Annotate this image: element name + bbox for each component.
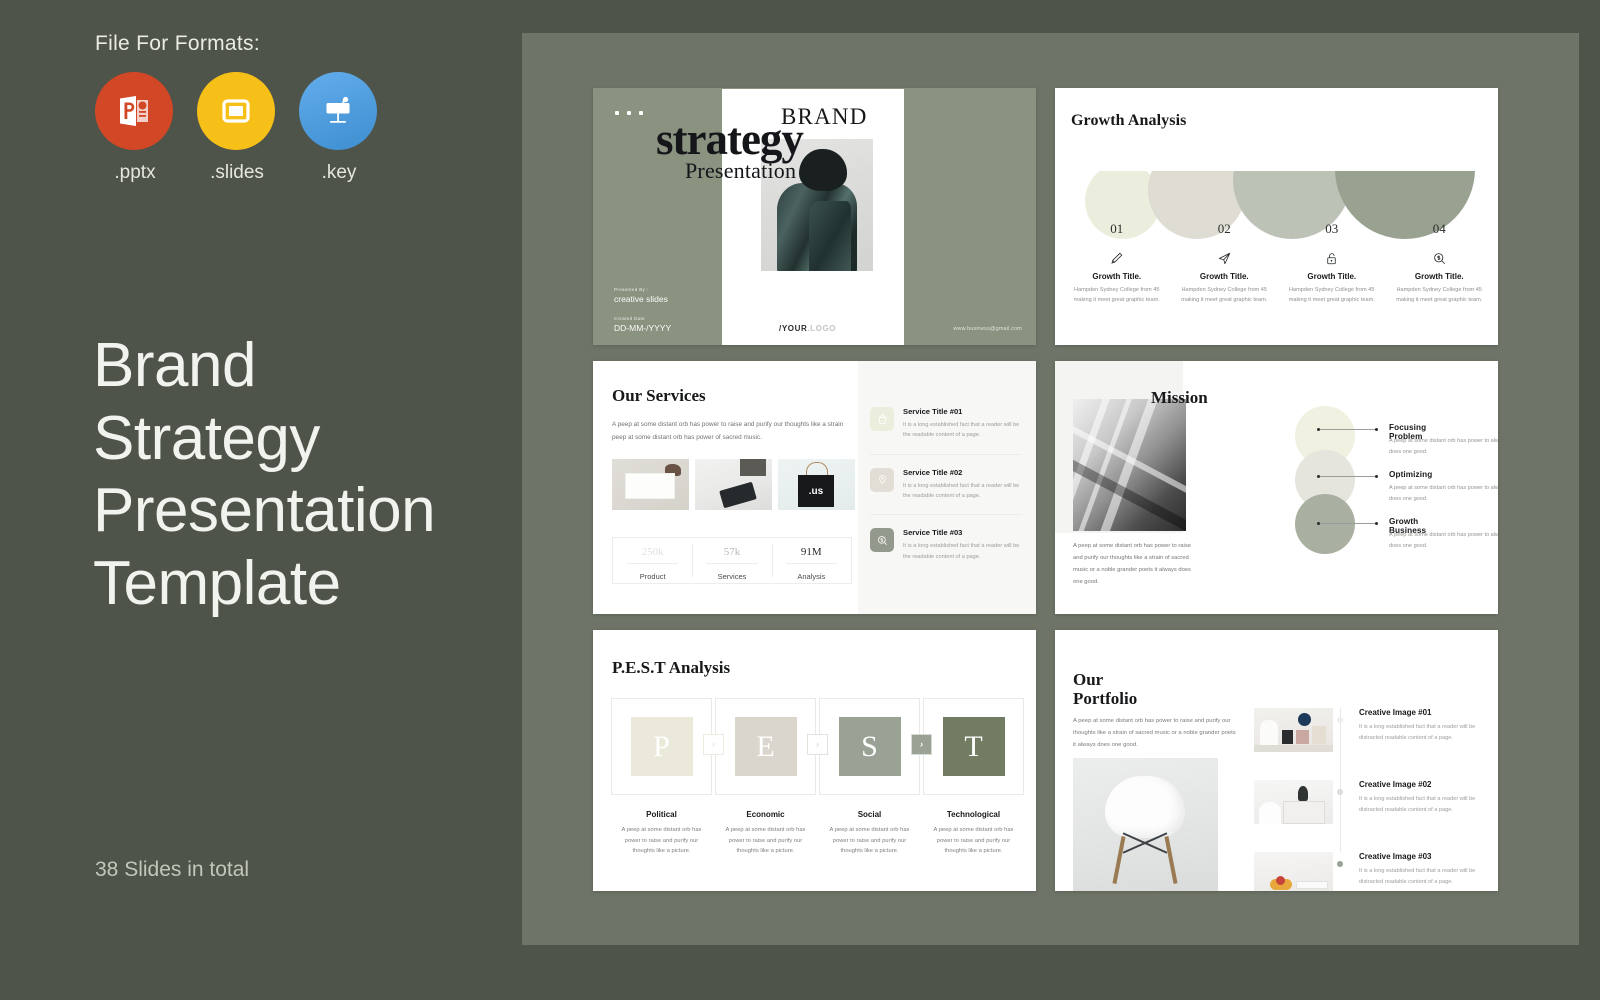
service-item-2[interactable]: Service Title #02 It is a long establish… (870, 468, 1022, 516)
pest-cell-1: P (611, 698, 712, 795)
services-lede: A peep at some distant orb has power to … (612, 418, 844, 444)
pest-body-3: A peep at some distant orb has power to … (819, 825, 920, 857)
mission-body-1: A peep at some distant orb has power to … (1389, 436, 1498, 457)
title-slide-meta: Presented By : creative slides Created D… (614, 287, 671, 345)
mission-circles (1295, 406, 1355, 554)
pest-body-1: A peep at some distant orb has power to … (611, 825, 712, 857)
paper-plane-icon (1179, 248, 1271, 268)
created-date-label: Created Date (614, 316, 671, 321)
pest-letter-1: P (631, 717, 693, 776)
keynote-icon (299, 72, 377, 150)
presented-by-label: Presented By : (614, 287, 671, 292)
desk-styling-photo (1254, 708, 1333, 752)
title-line-4: Template (93, 548, 435, 621)
portfolio-node-1 (1337, 717, 1343, 723)
portfolio-title: Our Portfolio (1073, 670, 1137, 708)
pest-letter-2: E (735, 717, 797, 776)
pest-letter-row: P E S T › › › (611, 698, 1024, 795)
service-heading-3: Service Title #03 (903, 528, 1022, 537)
portfolio-body-1: It is a long established fact that a rea… (1359, 722, 1487, 743)
growth-numbers: 01 02 03 04 (1063, 221, 1493, 237)
stat-analysis: 91M Analysis (772, 538, 851, 583)
services-title: Our Services (612, 386, 706, 406)
logo-sub: .LOGO (807, 324, 836, 333)
growth-number-4: 04 (1386, 221, 1494, 237)
stat-services: 57k Services (692, 538, 771, 583)
left-info-panel: File For Formats: .pptx (0, 0, 530, 1000)
growth-body-2: Hampden Sydney College from 45 making it… (1179, 286, 1271, 306)
pest-cell-4: T (923, 698, 1024, 795)
location-pin-icon (870, 468, 894, 492)
slide-count-label: 38 Slides in total (95, 858, 249, 882)
growth-heading-3: Growth Title. (1286, 272, 1378, 281)
pest-letter-4: T (943, 717, 1005, 776)
fruit-tray-photo (1254, 852, 1333, 891)
stat-product-number: 250k (613, 546, 692, 558)
title-line-2: Strategy (93, 403, 435, 476)
service-heading-2: Service Title #02 (903, 468, 1022, 477)
portfolio-body: A peep at some distant orb has power to … (1073, 716, 1239, 751)
pest-label-2: Economic A peep at some distant orb has … (715, 810, 816, 857)
growth-column-4: Growth Title. Hampden Sydney College fro… (1386, 248, 1494, 306)
pest-arrow-icon-1: › (703, 734, 724, 755)
unlock-icon (1286, 248, 1378, 268)
portfolio-title-line-1: Our (1073, 670, 1137, 689)
mission-body-3: A peep at some distant orb has power to … (1389, 530, 1498, 551)
search-dollar-icon (870, 528, 894, 552)
stat-services-number: 57k (692, 546, 771, 558)
pest-arrow-icon-2: › (807, 734, 828, 755)
services-list: Service Title #01 It is a long establish… (858, 361, 1036, 614)
phone-on-desk-photo (695, 459, 772, 510)
service-item-3[interactable]: Service Title #03 It is a long establish… (870, 528, 1022, 575)
service-heading-1: Service Title #01 (903, 407, 1022, 416)
pest-heading-4: Technological (923, 810, 1024, 819)
google-slides-icon (197, 72, 275, 150)
mission-heading-2: Optimizing (1389, 470, 1432, 479)
growth-body-1: Hampden Sydney College from 45 making it… (1071, 286, 1163, 306)
pest-heading-1: Political (611, 810, 712, 819)
architecture-building-photo (1073, 399, 1186, 531)
tote-bag-text: .us (798, 486, 834, 497)
sideboard-photo (1254, 780, 1333, 824)
slide-preview-our-portfolio[interactable]: Our Portfolio A peep at some distant orb… (1055, 630, 1498, 891)
pest-arrow-icon-3: › (911, 734, 932, 755)
pest-body-2: A peep at some distant orb has power to … (715, 825, 816, 857)
pest-label-1: Political A peep at some distant orb has… (611, 810, 712, 857)
pest-letter-3: S (839, 717, 901, 776)
powerpoint-icon (95, 72, 173, 150)
created-date-value: DD-MM-/YYYY (614, 323, 671, 333)
portfolio-heading-1: Creative Image #01 (1359, 708, 1487, 717)
format-ext-key: .key (299, 162, 379, 184)
portfolio-heading-3: Creative Image #03 (1359, 852, 1487, 861)
slide-preview-title[interactable]: BRAND strategy Presentation /YOUR.LOGO P… (593, 88, 1036, 345)
format-icon-row: .pptx .slides .key (95, 72, 379, 184)
format-item-key[interactable]: .key (299, 72, 379, 184)
service-body-1: It is a long established fact that a rea… (903, 420, 1022, 441)
slide-presentation-word: Presentation (685, 158, 796, 184)
presented-by-value: creative slides (614, 294, 671, 304)
format-item-slides[interactable]: .slides (197, 72, 277, 184)
portfolio-item-1[interactable]: Creative Image #01 It is a long establis… (1254, 708, 1487, 763)
shopping-bag-icon (870, 407, 894, 431)
pest-body-4: A peep at some distant orb has power to … (923, 825, 1024, 857)
format-ext-slides: .slides (197, 162, 277, 184)
growth-number-1: 01 (1063, 221, 1171, 237)
portfolio-body-2: It is a long established fact that a rea… (1359, 794, 1487, 815)
slide-preview-growth-analysis[interactable]: Growth Analysis 01 02 03 04 Growth Title… (1055, 88, 1498, 345)
mission-body-2: A peep at some distant orb has power to … (1389, 483, 1498, 504)
stat-product: 250k Product (613, 538, 692, 583)
slide-grid: BRAND strategy Presentation /YOUR.LOGO P… (593, 88, 1508, 891)
slide-preview-mission[interactable]: Mission A peep at some distant orb has p… (1055, 361, 1498, 614)
portfolio-heading-2: Creative Image #02 (1359, 780, 1487, 789)
growth-body-4: Hampden Sydney College from 45 making it… (1394, 286, 1486, 306)
pencil-icon (1071, 248, 1163, 268)
growth-column-1: Growth Title. Hampden Sydney College fro… (1063, 248, 1171, 306)
mission-body: A peep at some distant orb has power to … (1073, 541, 1191, 589)
service-body-3: It is a long established fact that a rea… (903, 541, 1022, 562)
pest-label-4: Technological A peep at some distant orb… (923, 810, 1024, 857)
portfolio-items: Creative Image #01 It is a long establis… (1254, 708, 1487, 891)
portfolio-item-2[interactable]: Creative Image #02 It is a long establis… (1254, 780, 1487, 835)
formats-label: File For Formats: (95, 32, 260, 56)
portfolio-node-3 (1337, 861, 1343, 867)
services-stats-box: 250k Product 57k Services 91M Analysis (612, 537, 852, 584)
pest-title: P.E.S.T Analysis (612, 658, 730, 678)
pest-heading-2: Economic (715, 810, 816, 819)
services-image-row: .us (612, 459, 855, 510)
growth-columns: Growth Title. Hampden Sydney College fro… (1063, 248, 1493, 306)
open-book-photo (612, 459, 689, 510)
growth-number-2: 02 (1171, 221, 1279, 237)
growth-heading-4: Growth Title. (1394, 272, 1486, 281)
logo-main: /YOUR (779, 324, 807, 333)
growth-column-3: Growth Title. Hampden Sydney College fro… (1278, 248, 1386, 306)
dots-decoration (615, 111, 643, 115)
title-line-3: Presentation (93, 475, 435, 548)
growth-heading-2: Growth Title. (1179, 272, 1271, 281)
pest-heading-3: Social (819, 810, 920, 819)
pest-label-3: Social A peep at some distant orb has po… (819, 810, 920, 857)
format-item-pptx[interactable]: .pptx (95, 72, 175, 184)
service-item-1[interactable]: Service Title #01 It is a long establish… (870, 407, 1022, 455)
pest-cell-2: E (715, 698, 816, 795)
contact-email: www.business@gmail.com (953, 326, 1022, 332)
stat-services-unit: Services (692, 565, 771, 581)
portfolio-item-3[interactable]: Creative Image #03 It is a long establis… (1254, 852, 1487, 891)
slide-preview-pest-analysis[interactable]: P.E.S.T Analysis P E S T › › › (593, 630, 1036, 891)
slide-preview-our-services[interactable]: Our Services A peep at some distant orb … (593, 361, 1036, 614)
page-title: Brand Strategy Presentation Template (93, 330, 435, 620)
growth-body-3: Hampden Sydney College from 45 making it… (1286, 286, 1378, 306)
pest-label-row: Political A peep at some distant orb has… (611, 810, 1024, 857)
growth-column-2: Growth Title. Hampden Sydney College fro… (1171, 248, 1279, 306)
portfolio-body-3: It is a long established fact that a rea… (1359, 866, 1487, 887)
portfolio-title-line-2: Portfolio (1073, 689, 1137, 708)
service-body-2: It is a long established fact that a rea… (903, 481, 1022, 502)
stat-product-unit: Product (613, 565, 692, 581)
growth-number-3: 03 (1278, 221, 1386, 237)
stat-analysis-unit: Analysis (772, 565, 851, 581)
format-ext-pptx: .pptx (95, 162, 175, 184)
slide-showcase-panel: BRAND strategy Presentation /YOUR.LOGO P… (522, 33, 1579, 945)
your-logo-placeholder: /YOUR.LOGO (779, 324, 836, 333)
search-dollar-icon (1394, 248, 1486, 268)
mission-title: Mission (1151, 388, 1208, 408)
white-chair-photo (1073, 758, 1218, 891)
growth-title: Growth Analysis (1071, 112, 1186, 130)
pest-cell-3: S (819, 698, 920, 795)
title-line-1: Brand (93, 330, 435, 403)
stat-analysis-number: 91M (772, 546, 851, 558)
growth-heading-1: Growth Title. (1071, 272, 1163, 281)
portfolio-node-2 (1337, 789, 1343, 795)
tote-bag-photo: .us (778, 459, 855, 510)
